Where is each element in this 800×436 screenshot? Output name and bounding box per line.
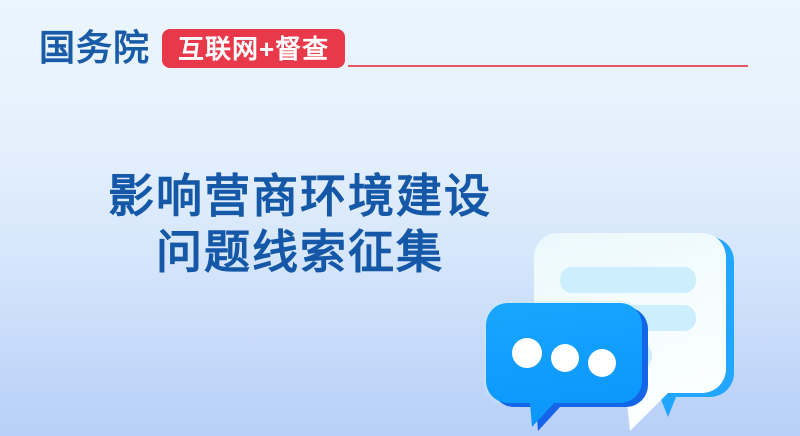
banner-header: 国务院 互联网+督查 bbox=[0, 0, 800, 95]
bar-line-1 bbox=[560, 267, 696, 293]
dot-2 bbox=[551, 344, 579, 372]
program-badge: 互联网+督查 bbox=[162, 29, 345, 68]
gov-logo-text: 国务院 bbox=[39, 26, 150, 70]
promo-banner: 国务院 互联网+督查 影响营商环境建设 问题线索征集 bbox=[0, 0, 800, 436]
speech-bubbles-illustration bbox=[480, 205, 800, 436]
header-divider-rule bbox=[348, 65, 748, 67]
program-badge-label: 互联网+督查 bbox=[178, 34, 329, 64]
dot-3 bbox=[588, 349, 616, 377]
dot-1 bbox=[512, 338, 542, 368]
